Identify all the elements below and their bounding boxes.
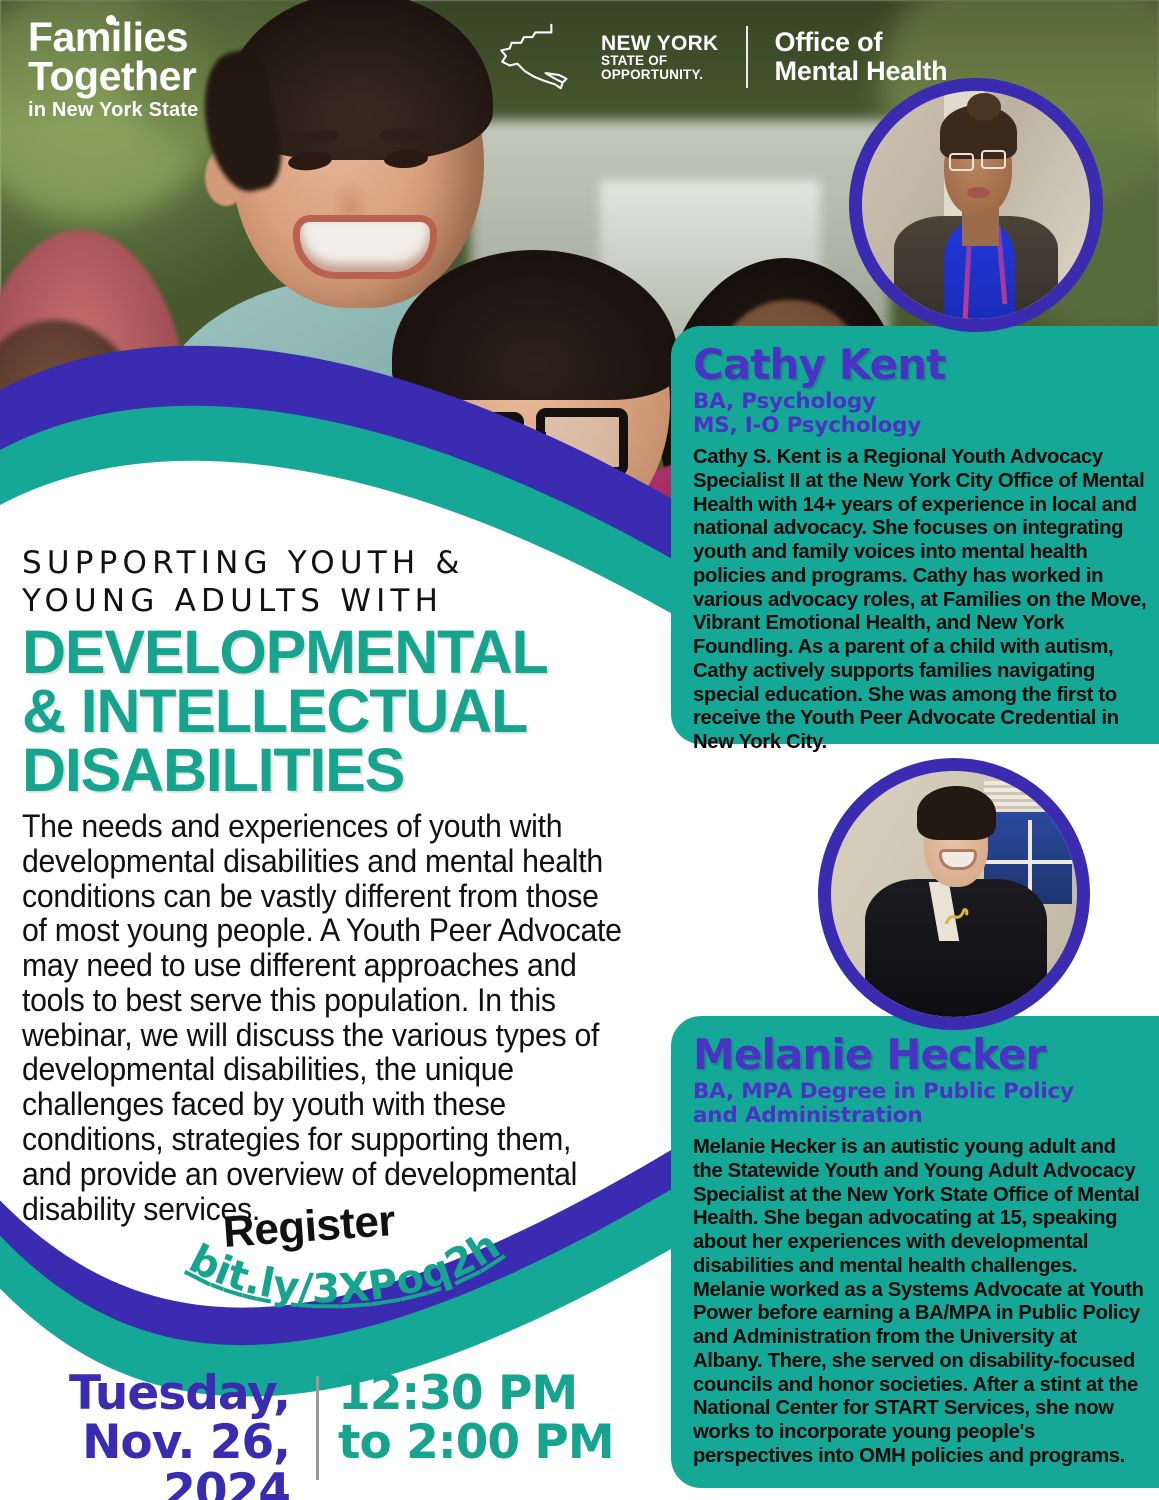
speaker-panel-melanie-hecker: Melanie Hecker BA, MPA Degree in Public …: [671, 1016, 1159, 1488]
register-block[interactable]: Register bit.ly/3XPoq2hg: [175, 1200, 575, 1310]
avatar: [831, 771, 1077, 1017]
avatar-glasses-left: [949, 153, 974, 171]
speaker-panel-cathy-kent: Cathy Kent BA, Psychology MS, I-O Psycho…: [671, 326, 1159, 744]
avatar-window-blinds: [984, 781, 1073, 811]
speaker-credentials-line-2: MS, I-O Psychology: [693, 414, 1147, 438]
avatar: [862, 91, 1090, 319]
youth-one-smile: [300, 222, 430, 272]
speaker-credentials-line-2: and Administration: [693, 1104, 1147, 1128]
agency-line-1: Office of: [775, 28, 948, 57]
register-link[interactable]: bit.ly/3XPoq2hg: [175, 1242, 505, 1312]
speaker-bio: Melanie Hecker is an autistic young adul…: [693, 1136, 1147, 1468]
speaker-bio: Cathy S. Kent is a Regional Youth Advoca…: [693, 446, 1147, 755]
avatar-smile: [942, 852, 974, 867]
avatar-hair: [917, 786, 996, 840]
speaker-credentials-line-1: BA, MPA Degree in Public Policy: [693, 1080, 1147, 1104]
new-york-state-outline-icon: [492, 22, 588, 92]
main-content-column: SUPPORTING YOUTH & YOUNG ADULTS WITH DEV…: [22, 545, 672, 1226]
headline-line-3: DISABILITIES: [22, 741, 672, 800]
headline-line-1: DEVELOPMENTAL: [22, 623, 672, 682]
nys-logo-text: NEW YORK STATE OF OPPORTUNITY.: [601, 33, 719, 82]
avatar-jacket: [865, 879, 1047, 1017]
kicker-line-1: SUPPORTING YOUTH &: [22, 545, 672, 583]
logo-line-3: in New York State: [28, 101, 199, 120]
event-time-line-1: 12:30 PM: [338, 1370, 614, 1419]
logo-line-2: Together: [28, 57, 199, 96]
register-url-arc[interactable]: bit.ly/3XPoq2hg: [175, 1242, 515, 1322]
datetime-divider: [316, 1376, 319, 1480]
kicker-text: SUPPORTING YOUTH & YOUNG ADULTS WITH: [22, 545, 672, 621]
avatar-lapel-pin: [944, 906, 970, 928]
avatar-hair-bun: [967, 93, 1001, 120]
nys-line-1: NEW YORK: [601, 33, 719, 54]
speaker-credentials-line-1: BA, Psychology: [693, 390, 1147, 414]
event-date-line-1: Tuesday,: [0, 1370, 290, 1419]
event-datetime: Tuesday, Nov. 26, 2024 12:30 PM to 2:00 …: [0, 1370, 620, 1490]
agency-line-2: Mental Health: [775, 57, 948, 86]
youth-one-brow-right: [380, 128, 436, 142]
avatar-lips: [967, 187, 990, 198]
speaker-avatar-melanie-hecker: [818, 758, 1090, 1030]
flyer-page: SUPPORTING YOUTH & YOUNG ADULTS WITH DEV…: [0, 0, 1159, 1500]
office-of-mental-health-text: Office of Mental Health: [775, 28, 948, 86]
page-title: DEVELOPMENTAL & INTELLECTUAL DISABILITIE…: [22, 623, 672, 800]
event-date: Tuesday, Nov. 26, 2024: [0, 1370, 290, 1500]
avatar-glasses-right: [981, 150, 1006, 168]
speaker-name: Cathy Kent: [693, 344, 1147, 386]
speaker-credentials: BA, MPA Degree in Public Policy and Admi…: [693, 1080, 1147, 1127]
headline-line-2: & INTELLECTUAL: [22, 682, 672, 741]
event-time: 12:30 PM to 2:00 PM: [338, 1370, 614, 1468]
speaker-credentials: BA, Psychology MS, I-O Psychology: [693, 390, 1147, 437]
event-date-line-2: Nov. 26, 2024: [0, 1419, 290, 1500]
youth-one-nose: [330, 178, 370, 222]
logo-line-1: Families: [28, 18, 188, 57]
speaker-avatar-cathy-kent: [849, 78, 1103, 332]
event-time-line-2: to 2:00 PM: [338, 1419, 614, 1468]
nys-line-3: OPPORTUNITY.: [601, 68, 719, 82]
nys-omh-logo: NEW YORK STATE OF OPPORTUNITY. Office of…: [492, 22, 947, 92]
families-together-logo: Families Together in New York State: [28, 18, 199, 120]
logo-divider: [746, 26, 748, 88]
avatar-window-mullion-horizontal: [984, 860, 1073, 864]
nys-line-2: STATE OF: [601, 54, 719, 68]
speaker-name: Melanie Hecker: [693, 1034, 1147, 1076]
kicker-line-2: YOUNG ADULTS WITH: [22, 583, 672, 621]
